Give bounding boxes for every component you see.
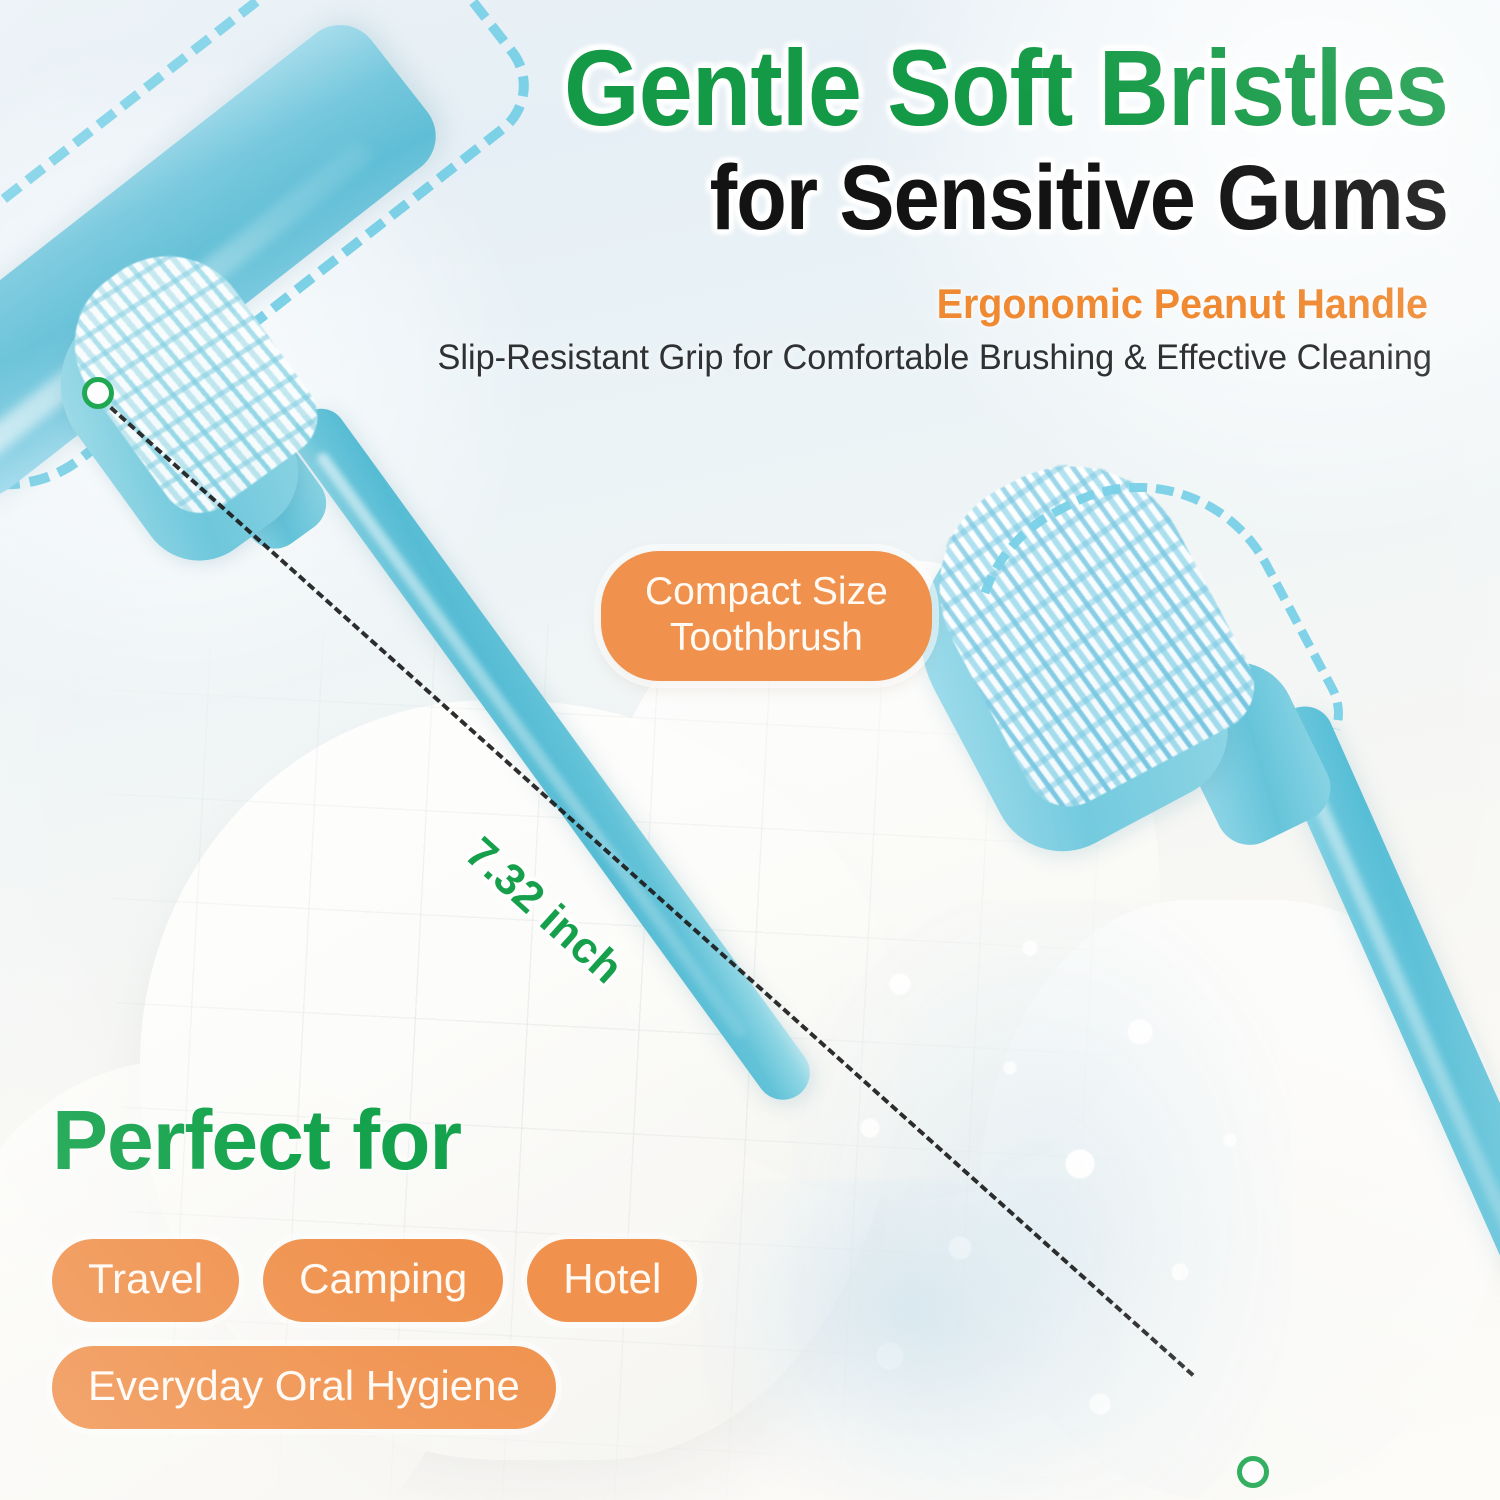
badge-line-1: Compact Size [645, 569, 888, 615]
product-feature-image: 7.32 inch Gentle Soft Bristles for Sensi… [0, 0, 1500, 1500]
use-case-tag: Travel [52, 1239, 239, 1322]
toothbrush-head-closeup [960, 440, 1500, 1500]
subheading-description: Slip-Resistant Grip for Comfortable Brus… [29, 338, 1432, 378]
headline-line-2: for Sensitive Gums [145, 152, 1448, 244]
use-case-tag-row: Everyday Oral Hygiene [52, 1346, 556, 1429]
subheading-feature: Ergonomic Peanut Handle [86, 280, 1428, 328]
perfect-for-title: Perfect for [52, 1092, 461, 1189]
use-case-tag-row: Travel Camping Hotel [52, 1239, 697, 1322]
headline-block: Gentle Soft Bristles for Sensitive Gums [0, 34, 1448, 244]
badge-line-2: Toothbrush [645, 615, 888, 661]
compact-size-badge: Compact Size Toothbrush [601, 551, 932, 681]
use-case-tag: Camping [263, 1239, 503, 1322]
toothbrush-handle [283, 399, 820, 1110]
headline-line-1: Gentle Soft Bristles [145, 34, 1448, 142]
use-case-tag: Everyday Oral Hygiene [52, 1346, 556, 1429]
measurement-endpoint-circle-icon [82, 377, 114, 409]
use-case-tag: Hotel [527, 1239, 697, 1322]
measurement-endpoint-circle-icon [1237, 1456, 1269, 1488]
